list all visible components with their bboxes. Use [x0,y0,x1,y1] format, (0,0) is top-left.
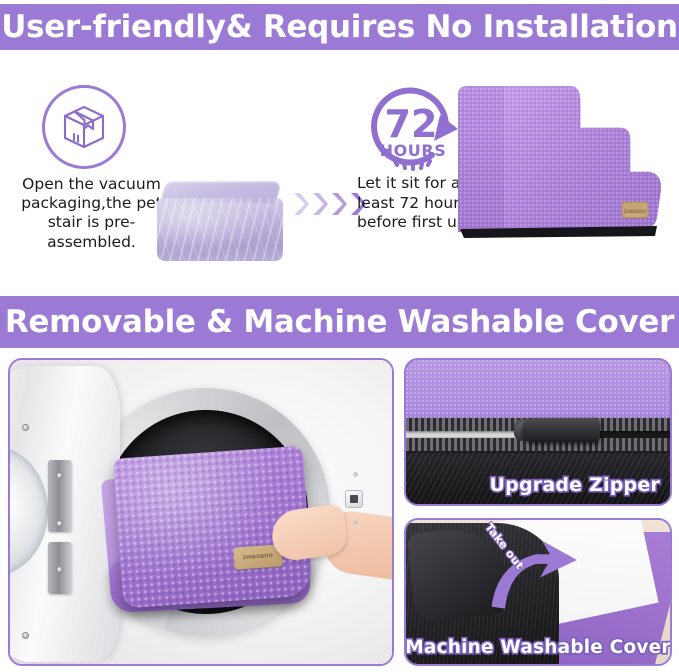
washer-indicator-led [353,472,358,477]
banner-title-installation: User-friendly& Requires No Installation [1,9,678,45]
cover-photo: Take out Machine Washable Cover [404,518,672,666]
purple-mesh-fabric [406,360,670,423]
caption-machine-washable-cover: Machine Washable Cover [405,637,670,658]
step-1-line: Open the vacuum packaging,the pet stair … [4,175,179,252]
section-banner-cover: Removable & Machine Washable Cover [0,296,679,348]
installation-steps-section: Open the vacuum packaging,the pet stair … [0,50,679,296]
badge-unit: HOURS [380,141,447,160]
banner-title-washable: Removable & Machine Washable Cover [5,304,674,340]
zipper-pull-tab[interactable] [522,418,600,442]
hand-placing-cover [272,500,394,592]
infographic-page: User-friendly& Requires No Installation … [0,0,679,672]
caption-upgrade-zipper: Upgrade Zipper [490,474,660,496]
hinge-screw [22,632,29,639]
zipper-photo: Upgrade Zipper [404,358,672,506]
plastic-wrap-sheen [157,198,283,261]
brand-tag-text: ZHIBOBOO [243,553,274,561]
step-1-caption: Open the vacuum packaging,the pet stair … [4,175,179,252]
vacuum-packed-foam-image [157,181,283,261]
progress-chevrons [292,191,366,217]
hinge-screw [22,424,29,431]
chevron-3-icon [330,191,347,217]
chevron-1-icon [292,191,309,217]
package-box-icon [42,85,126,169]
section-banner-top: User-friendly& Requires No Installation [0,4,679,50]
hinge-screw [56,520,63,527]
chevron-2-icon [311,191,328,217]
72-hours-icon: 72 HOURS [362,85,466,181]
badge-number: 72 [385,102,438,146]
svg-text:ZHIBOBOO: ZHIBOBOO [624,209,647,214]
hinge-screw [56,566,63,573]
washer-indicator-led [353,520,358,525]
washer-control-button[interactable] [345,490,363,508]
washing-machine-photo: ZHIBOBOO [8,358,394,666]
hinge-screw [56,472,63,479]
pet-stair-product-image: ZHIBOBOO [452,80,667,240]
